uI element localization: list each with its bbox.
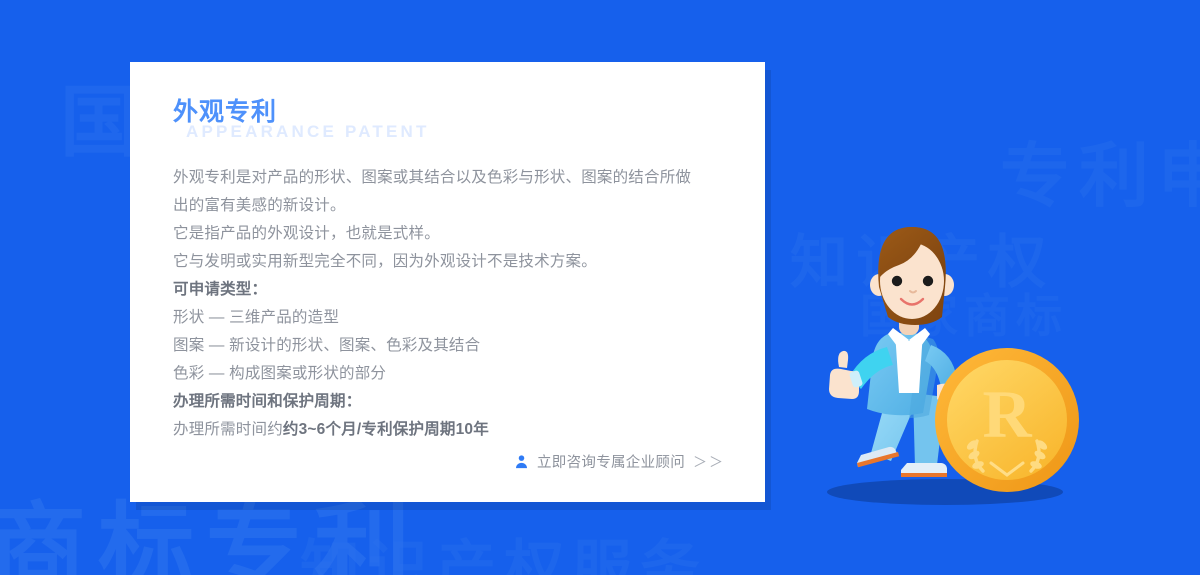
watermark-far-right: 专利申请: [1000, 120, 1200, 221]
consult-link-label: 立即咨询专属企业顾问: [537, 451, 685, 472]
processing-time-value: 约3~6个月/专利保护周期10年: [283, 421, 489, 438]
description-line: 出的富有美感的新设计。: [173, 192, 725, 220]
description-line: 办理所需时间和保护周期：: [173, 388, 725, 416]
content-card: APPEARANCE PATENT 外观专利 外观专利是对产品的形状、图案或其结…: [130, 62, 765, 502]
businesswoman-with-coin-illustration: R: [795, 215, 1095, 515]
back-shoe-sole: [901, 473, 947, 477]
consult-arrow-icon: ＞＞: [693, 452, 725, 472]
card-inner: APPEARANCE PATENT 外观专利 外观专利是对产品的形状、图案或其结…: [130, 62, 765, 502]
back-shoe: [901, 463, 947, 474]
description-line: 色彩 — 构成图案或形状的部分: [173, 360, 725, 388]
description-line: 它与发明或实用新型完全不同，因为外观设计不是技术方案。: [173, 248, 725, 276]
processing-time-prefix: 办理所需时间约: [173, 421, 283, 438]
eye-left: [892, 276, 902, 286]
consult-advisor-link[interactable]: 立即咨询专属企业顾问 ＞＞: [130, 451, 725, 472]
processing-time-line: 办理所需时间约约3~6个月/专利保护周期10年: [173, 416, 725, 444]
description-body: 外观专利是对产品的形状、图案或其结合以及色彩与形状、图案的结合所做出的富有美感的…: [173, 164, 725, 444]
page-title: 外观专利: [173, 100, 725, 125]
description-line: 形状 — 三维产品的造型: [173, 304, 725, 332]
person-icon: [514, 454, 529, 469]
title-block: APPEARANCE PATENT 外观专利: [173, 100, 725, 152]
description-line: 图案 — 新设计的形状、图案、色彩及其结合: [173, 332, 725, 360]
watermark-bottom-center: 知识产权服务: [300, 520, 708, 575]
eye-right: [923, 276, 933, 286]
description-line: 可申请类型：: [173, 276, 725, 304]
head: [870, 227, 954, 325]
description-line: 外观专利是对产品的形状、图案或其结合以及色彩与形状、图案的结合所做: [173, 164, 725, 192]
gold-coin: R: [935, 348, 1079, 492]
coin-letter: R: [982, 376, 1032, 452]
description-line: 它是指产品的外观设计，也就是式样。: [173, 220, 725, 248]
